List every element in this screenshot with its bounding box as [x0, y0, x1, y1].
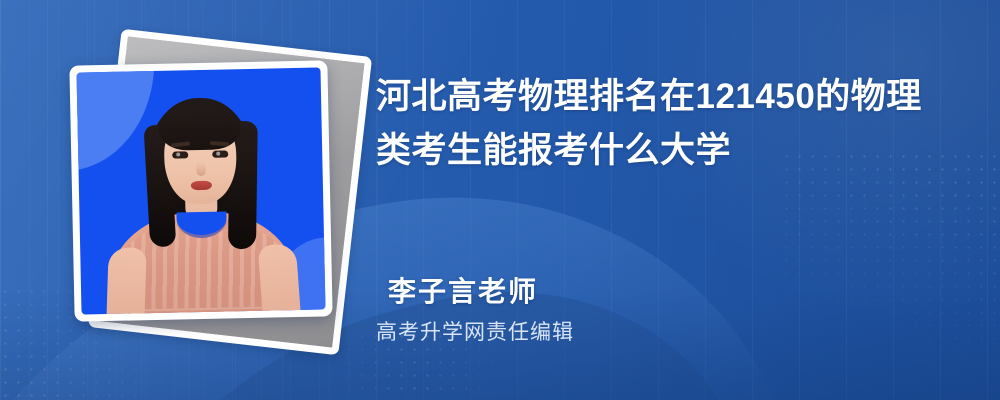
article-banner: 河北高考物理排名在121450的物理类考生能报考什么大学 李子言老师 高考升学网… — [0, 0, 1000, 400]
author-photo-frame — [69, 60, 332, 321]
arm-right-shape — [258, 243, 303, 314]
photo-stack — [46, 30, 366, 370]
eye-left — [172, 151, 188, 158]
portrait-illustration — [76, 67, 325, 314]
nose-shape — [196, 162, 205, 176]
avatar — [76, 67, 325, 314]
page-title: 河北高考物理排名在121450的物理类考生能报考什么大学 — [376, 70, 954, 179]
author-byline: 高考升学网责任编辑 — [376, 316, 574, 346]
eye-right — [212, 150, 228, 157]
author-name: 李子言老师 — [388, 270, 538, 310]
banner-text-column: 河北高考物理排名在121450的物理类考生能报考什么大学 李子言老师 高考升学网… — [376, 0, 976, 400]
arm-left-shape — [106, 247, 147, 315]
lips-shape — [190, 181, 211, 190]
